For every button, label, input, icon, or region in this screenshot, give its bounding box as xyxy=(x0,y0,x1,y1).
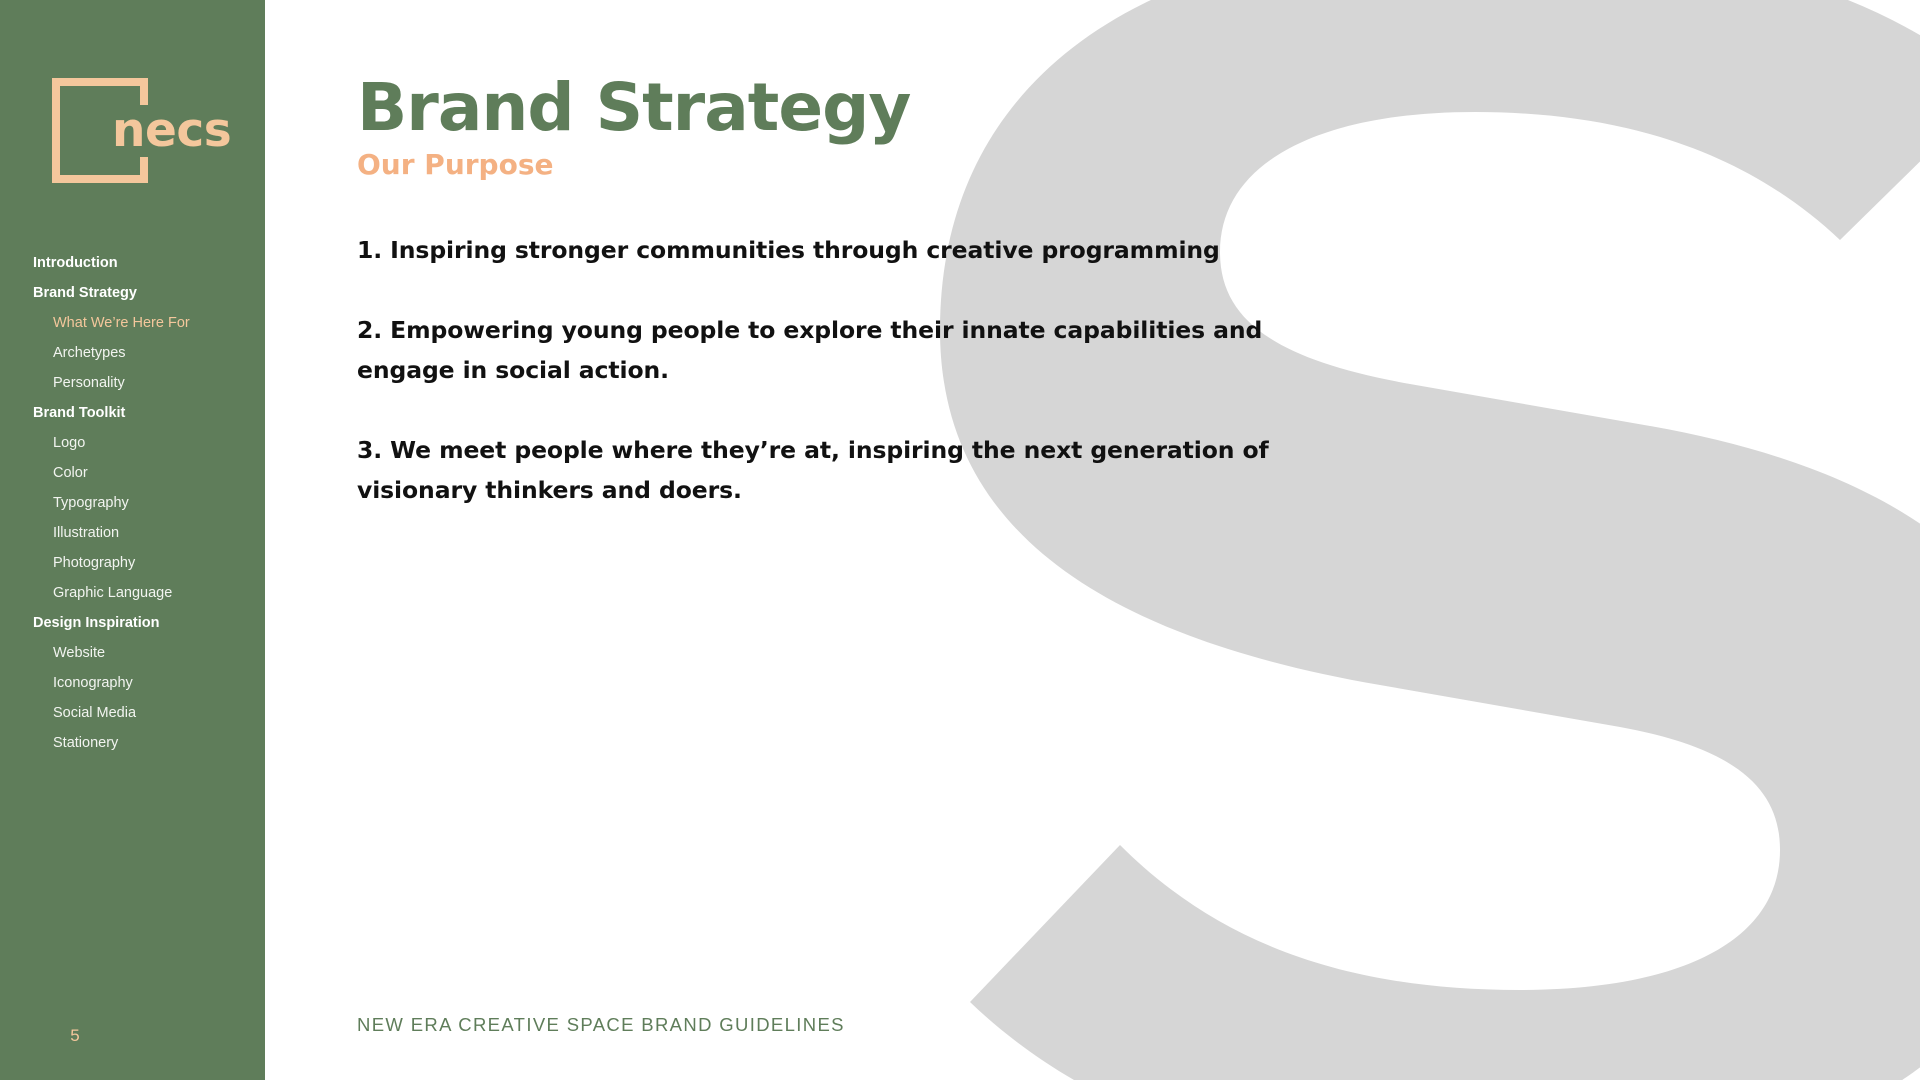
purpose-item: 3. We meet people where they’re at, insp… xyxy=(357,430,1312,510)
sidebar-item-brand-strategy[interactable]: Brand Strategy xyxy=(0,278,265,308)
sidebar-item-personality[interactable]: Personality xyxy=(0,368,265,398)
sidebar-item-design-inspiration[interactable]: Design Inspiration xyxy=(0,608,265,638)
sidebar-item-iconography[interactable]: Iconography xyxy=(0,668,265,698)
sidebar-item-archetypes[interactable]: Archetypes xyxy=(0,338,265,368)
footer-text: NEW ERA CREATIVE SPACE BRAND GUIDELINES xyxy=(357,1014,845,1036)
purpose-list: 1. Inspiring stronger communities throug… xyxy=(357,230,1312,510)
sidebar-nav: IntroductionBrand StrategyWhat We’re Her… xyxy=(0,248,265,758)
sidebar: necs IntroductionBrand StrategyWhat We’r… xyxy=(0,0,265,1080)
brand-logo[interactable]: necs xyxy=(52,78,192,183)
slide-page: necs IntroductionBrand StrategyWhat We’r… xyxy=(0,0,1920,1080)
sidebar-item-website[interactable]: Website xyxy=(0,638,265,668)
sidebar-item-illustration[interactable]: Illustration xyxy=(0,518,265,548)
sidebar-item-what-we-re-here-for[interactable]: What We’re Here For xyxy=(0,308,265,338)
sidebar-item-photography[interactable]: Photography xyxy=(0,548,265,578)
sidebar-item-introduction[interactable]: Introduction xyxy=(0,248,265,278)
sidebar-item-typography[interactable]: Typography xyxy=(0,488,265,518)
sidebar-item-graphic-language[interactable]: Graphic Language xyxy=(0,578,265,608)
purpose-item: 2. Empowering young people to explore th… xyxy=(357,310,1312,390)
sidebar-item-stationery[interactable]: Stationery xyxy=(0,728,265,758)
page-number: 5 xyxy=(0,1026,150,1046)
sidebar-item-social-media[interactable]: Social Media xyxy=(0,698,265,728)
sidebar-item-logo[interactable]: Logo xyxy=(0,428,265,458)
logo-wordmark: necs xyxy=(112,105,231,157)
main-content: Brand Strategy Our Purpose 1. Inspiring … xyxy=(265,0,1920,1080)
content-block: Brand Strategy Our Purpose 1. Inspiring … xyxy=(265,0,1920,510)
page-subtitle: Our Purpose xyxy=(357,148,1920,182)
purpose-item: 1. Inspiring stronger communities throug… xyxy=(357,230,1312,270)
page-title: Brand Strategy xyxy=(357,72,1920,144)
sidebar-item-color[interactable]: Color xyxy=(0,458,265,488)
sidebar-item-brand-toolkit[interactable]: Brand Toolkit xyxy=(0,398,265,428)
